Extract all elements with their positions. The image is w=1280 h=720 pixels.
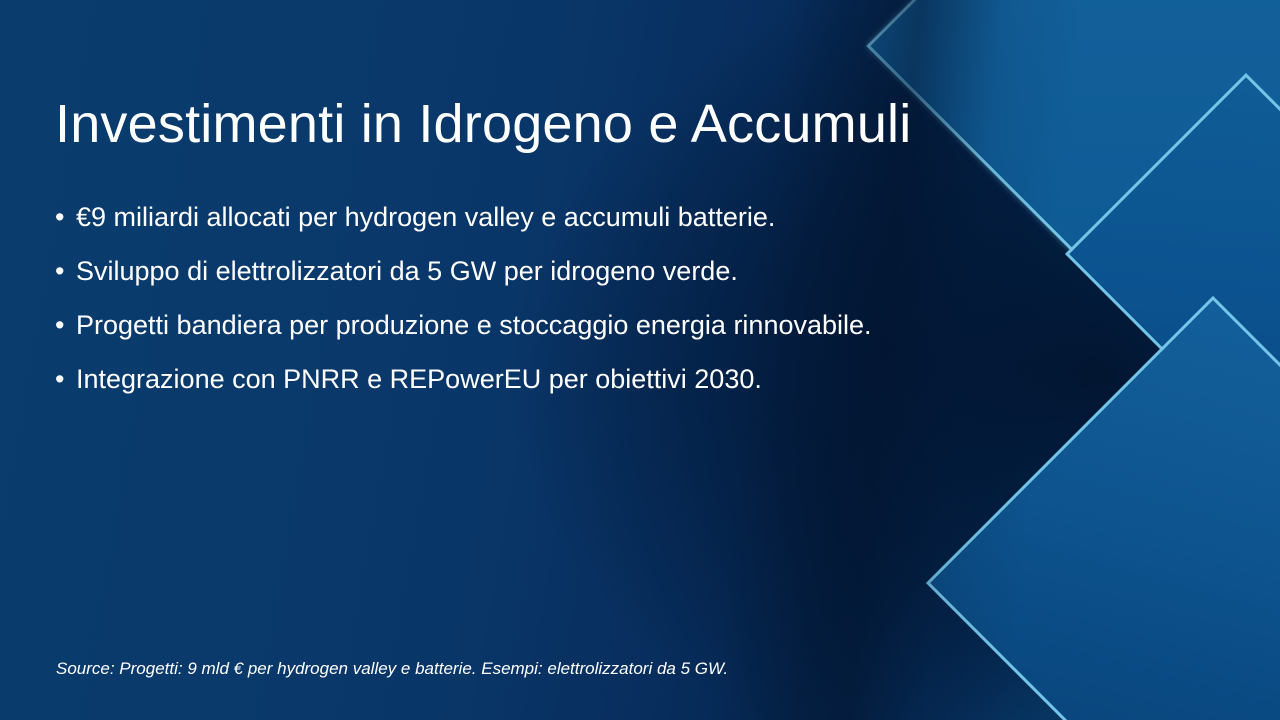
bullet-text: Progetti bandiera per produzione e stocc… [76, 298, 872, 352]
source-note: Source: Progetti: 9 mld € per hydrogen v… [56, 657, 728, 681]
list-item: • Progetti bandiera per produzione e sto… [55, 298, 1065, 352]
list-item: • Integrazione con PNRR e REPowerEU per … [55, 352, 1065, 406]
bullet-text: Integrazione con PNRR e REPowerEU per ob… [76, 352, 762, 406]
slide-content: Investimenti in Idrogeno e Accumuli • €9… [0, 0, 1280, 720]
bullet-point-icon: • [55, 244, 76, 298]
bullet-point-icon: • [55, 352, 76, 406]
bullet-text: Sviluppo di elettrolizzatori da 5 GW per… [76, 244, 738, 298]
bullet-text: €9 miliardi allocati per hydrogen valley… [76, 190, 775, 244]
list-item: • Sviluppo di elettrolizzatori da 5 GW p… [55, 244, 1065, 298]
slide-title: Investimenti in Idrogeno e Accumuli [55, 92, 1055, 156]
bullet-point-icon: • [55, 190, 76, 244]
bullet-point-icon: • [55, 298, 76, 352]
presentation-slide: Investimenti in Idrogeno e Accumuli • €9… [0, 0, 1280, 720]
bullet-list: • €9 miliardi allocati per hydrogen vall… [55, 190, 1065, 406]
list-item: • €9 miliardi allocati per hydrogen vall… [55, 190, 1065, 244]
